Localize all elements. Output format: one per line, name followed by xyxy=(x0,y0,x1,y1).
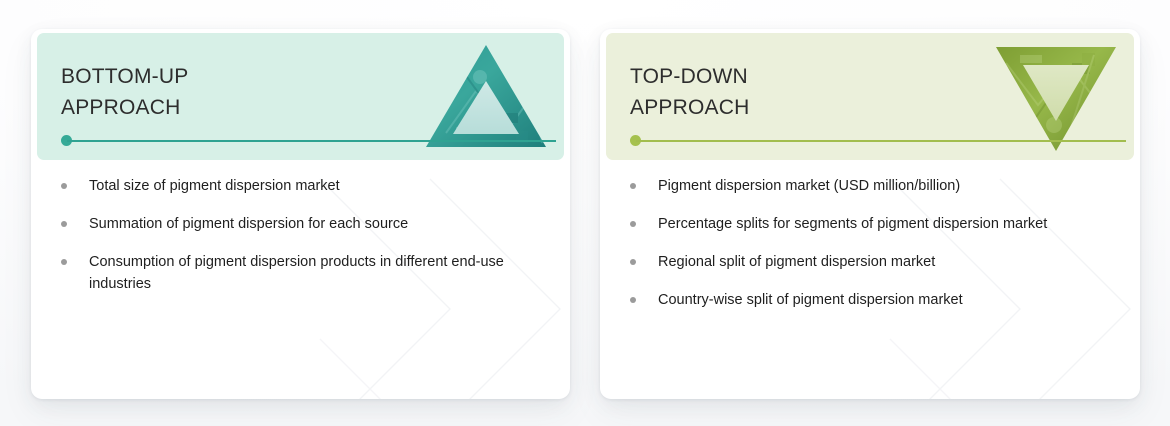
list-item-label: Consumption of pigment dispersion produc… xyxy=(89,251,544,295)
card-header-top-down: TOP-DOWN APPROACH xyxy=(606,33,1134,160)
bullet-list-bottom-up: Total size of pigment dispersion market … xyxy=(31,175,570,311)
card-header-bottom-up: BOTTOM-UP APPROACH xyxy=(37,33,564,160)
bullet-dot-icon xyxy=(630,297,636,303)
card-title-bottom-up: BOTTOM-UP APPROACH xyxy=(61,61,188,123)
card-bottom-up-approach: BOTTOM-UP APPROACH Total size of pigment… xyxy=(31,29,570,399)
bullet-dot-icon xyxy=(630,221,636,227)
list-item: Total size of pigment dispersion market xyxy=(53,175,544,197)
list-item-label: Regional split of pigment dispersion mar… xyxy=(658,251,935,273)
list-item-label: Country-wise split of pigment dispersion… xyxy=(658,289,963,311)
list-item-label: Pigment dispersion market (USD million/b… xyxy=(658,175,960,197)
list-item-label: Total size of pigment dispersion market xyxy=(89,175,340,197)
bullet-dot-icon xyxy=(61,221,67,227)
list-item-label: Summation of pigment dispersion for each… xyxy=(89,213,408,235)
list-item: Consumption of pigment dispersion produc… xyxy=(53,251,544,295)
list-item: Percentage splits for segments of pigmen… xyxy=(622,213,1114,235)
card-title-top-down: TOP-DOWN APPROACH xyxy=(630,61,749,123)
list-item: Country-wise split of pigment dispersion… xyxy=(622,289,1114,311)
list-item: Regional split of pigment dispersion mar… xyxy=(622,251,1114,273)
list-item: Pigment dispersion market (USD million/b… xyxy=(622,175,1114,197)
card-top-down-approach: TOP-DOWN APPROACH Pigment dispersion mar… xyxy=(600,29,1140,399)
list-item: Summation of pigment dispersion for each… xyxy=(53,213,544,235)
bullet-dot-icon xyxy=(630,259,636,265)
bullet-list-top-down: Pigment dispersion market (USD million/b… xyxy=(600,175,1140,327)
accent-rule-top-down xyxy=(636,140,1126,142)
list-item-label: Percentage splits for segments of pigmen… xyxy=(658,213,1047,235)
accent-rule-bottom-up xyxy=(67,140,556,142)
bullet-dot-icon xyxy=(630,183,636,189)
bullet-dot-icon xyxy=(61,259,67,265)
bullet-dot-icon xyxy=(61,183,67,189)
